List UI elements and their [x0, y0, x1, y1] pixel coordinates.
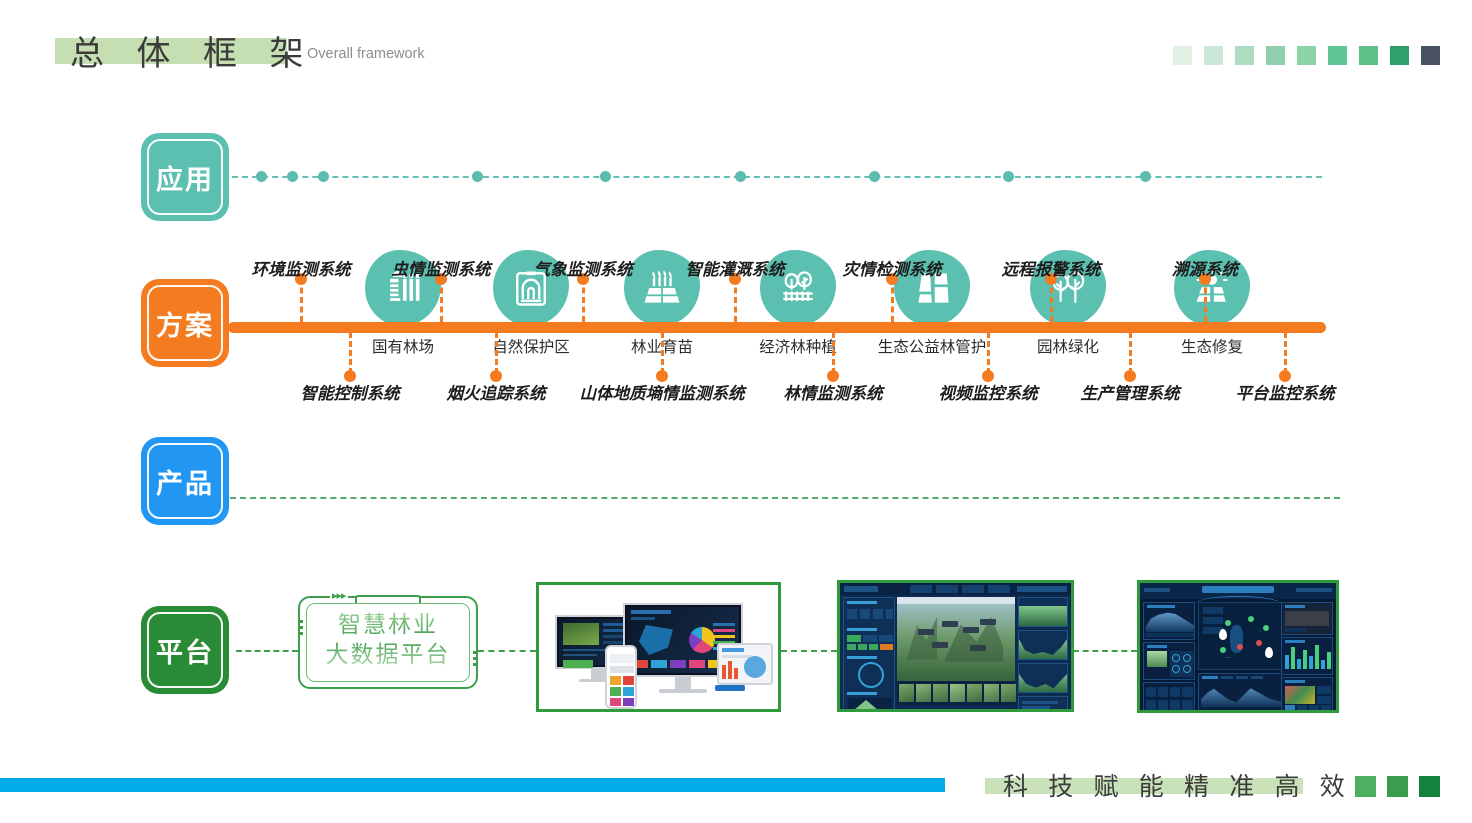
application-connector-dot-5: [600, 171, 611, 182]
platform-connector-2: [478, 650, 536, 652]
bigdata-box-line1: 智慧林业: [300, 610, 476, 640]
slide-header: 总 体 框 架 Overall framework: [0, 0, 1472, 90]
platform-layer-row: 平台 ▸▸▸ 智慧林业 大数据平台: [0, 580, 1472, 725]
header-square-5: [1297, 46, 1316, 65]
bigdata-platform-box: ▸▸▸ 智慧林业 大数据平台: [298, 596, 478, 689]
forest-dashboard-image: [840, 583, 1071, 709]
footer-square-1: [1355, 776, 1376, 797]
multi-device-image: [539, 585, 778, 709]
application-connector-dot-6: [735, 171, 746, 182]
product-connector-line: [230, 497, 1340, 499]
solution-label-above-7: 溯源系统: [1172, 256, 1238, 280]
application-connector-dot-7: [869, 171, 880, 182]
slide-root: 总 体 框 架 Overall framework 应用 国有林场自然保护区林业…: [0, 0, 1472, 823]
header-square-4: [1266, 46, 1285, 65]
solution-label-below-1: 智能控制系统: [301, 380, 400, 404]
header-square-8: [1390, 46, 1409, 65]
solution-label-above-5: 灾情检测系统: [843, 256, 942, 280]
application-connector-dot-4: [472, 171, 483, 182]
product-layer-badge: 产品: [141, 437, 229, 525]
header-square-7: [1359, 46, 1378, 65]
application-layer-badge: 应用: [141, 133, 229, 221]
solution-label-below-4: 林情监测系统: [784, 380, 883, 404]
platform-connector-4: [1073, 650, 1137, 652]
bigdata-dashboard-image: [1140, 583, 1336, 710]
bigdata-dashboard-preview[interactable]: [1137, 580, 1339, 713]
solution-layer-row: 方案 环境监测系统虫情监测系统气象监测系统智能灌溉系统灾情检测系统远程报警系统溯…: [0, 258, 1472, 408]
footer-square-3: [1419, 776, 1440, 797]
application-layer-badge-label: 应用: [156, 158, 214, 197]
footer-decorative-squares: [1355, 776, 1440, 797]
application-connector-dot-2: [287, 171, 298, 182]
solution-label-below-6: 生产管理系统: [1081, 380, 1180, 404]
application-connector-dot-9: [1140, 171, 1151, 182]
application-connector-dot-3: [318, 171, 329, 182]
header-decorative-squares: [1173, 46, 1440, 65]
solution-layer-badge: 方案: [141, 279, 229, 367]
platform-connector-1: [236, 650, 298, 652]
footer-square-2: [1387, 776, 1408, 797]
bigdata-arrow-decoration: ▸▸▸: [330, 591, 348, 602]
solution-layer-badge-label: 方案: [156, 304, 214, 343]
solution-timeline-bar: [228, 322, 1326, 333]
application-connector-line: [232, 176, 1322, 178]
bigdata-box-line2: 大数据平台: [300, 640, 476, 670]
solution-label-above-2: 虫情监测系统: [392, 256, 491, 280]
solution-label-below-7: 平台监控系统: [1236, 380, 1335, 404]
footer-blue-bar: [0, 778, 945, 792]
solution-label-below-5: 视频监控系统: [939, 380, 1038, 404]
product-layer-badge-label: 产品: [156, 462, 214, 501]
header-square-3: [1235, 46, 1254, 65]
header-square-2: [1204, 46, 1223, 65]
page-title: 总 体 框 架: [70, 26, 316, 75]
solution-label-above-6: 远程报警系统: [1002, 256, 1101, 280]
bigdata-box-text: 智慧林业 大数据平台: [300, 610, 476, 671]
header-square-9: [1421, 46, 1440, 65]
header-square-1: [1173, 46, 1192, 65]
platform-layer-badge-label: 平台: [156, 631, 214, 670]
bigdata-box-notch: [355, 595, 421, 603]
platform-layer-badge: 平台: [141, 606, 229, 694]
forest-monitoring-dashboard-preview[interactable]: [837, 580, 1074, 712]
solution-label-below-3: 山体地质墒情监测系统: [580, 380, 745, 404]
footer-slogan: 科 技 赋 能 精 准 高 效: [1003, 767, 1352, 803]
application-connector-dot-8: [1003, 171, 1014, 182]
platform-connector-3: [781, 650, 837, 652]
solution-label-above-4: 智能灌溉系统: [686, 256, 785, 280]
application-layer-row: 应用 国有林场自然保护区林业育苗经济林种植生态公益林管护园林绿化生态修复: [0, 118, 1472, 228]
solution-label-below-2: 烟火追踪系统: [447, 380, 546, 404]
application-connector-dot-1: [256, 171, 267, 182]
product-layer-row: 产品 气象监测传感器地质检测传感器灾情检测传感器开关量控制器正反转控制器百分比控…: [0, 425, 1472, 560]
solution-label-above-3: 气象监测系统: [534, 256, 633, 280]
slide-footer: 科 技 赋 能 精 准 高 效: [0, 760, 1472, 823]
solution-label-above-1: 环境监测系统: [252, 256, 351, 280]
page-subtitle-en: Overall framework: [307, 46, 425, 62]
multi-device-platform-preview[interactable]: [536, 582, 781, 712]
header-square-6: [1328, 46, 1347, 65]
